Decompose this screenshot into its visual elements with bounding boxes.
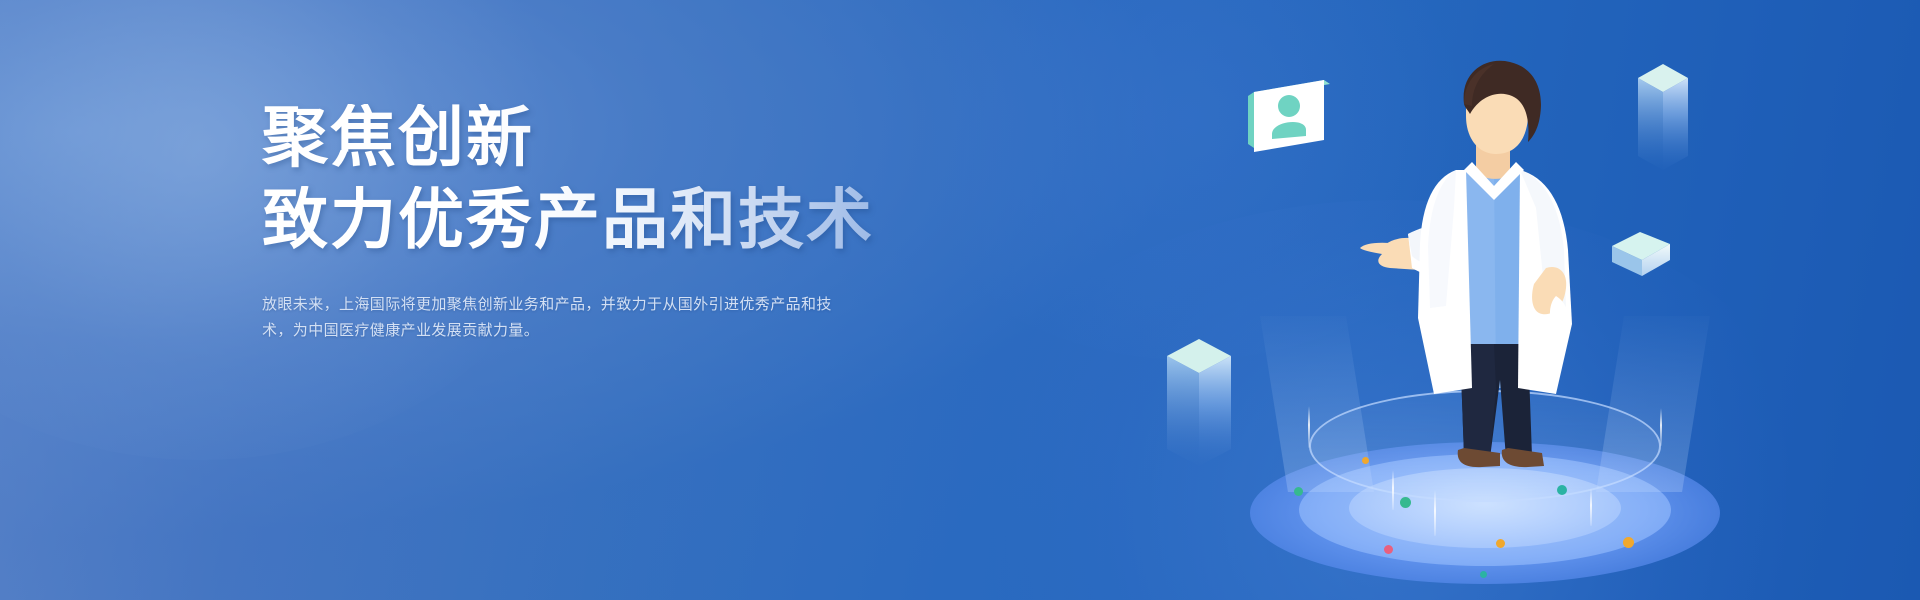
particle-dot <box>1384 545 1393 554</box>
particle-dot <box>1294 487 1303 496</box>
light-streak <box>1590 488 1592 526</box>
light-streak <box>1434 490 1436 536</box>
particle-dot <box>1480 571 1487 578</box>
particle-dot <box>1400 497 1411 508</box>
particle-dot <box>1496 539 1505 548</box>
light-streak <box>1308 406 1310 448</box>
headline-line-2: 致力优秀产品和技术 <box>262 186 902 252</box>
particle-dot <box>1557 485 1567 495</box>
hero-body-text: 放眼未来，上海国际将更加聚焦创新业务和产品，并致力于从国外引进优秀产品和技术，为… <box>262 292 848 344</box>
light-streak <box>1660 408 1662 446</box>
illustration <box>900 0 1920 600</box>
headline-line-1: 聚焦创新 <box>262 104 902 170</box>
particle-dot <box>1623 537 1634 548</box>
hero-banner: 聚焦创新 致力优秀产品和技术 放眼未来，上海国际将更加聚焦创新业务和产品，并致力… <box>0 0 1920 600</box>
iso-pillar-left-icon <box>1163 336 1235 468</box>
hero-copy: 聚焦创新 致力优秀产品和技术 放眼未来，上海国际将更加聚焦创新业务和产品，并致力… <box>262 104 902 344</box>
user-avatar-card-icon <box>1246 78 1330 158</box>
iso-pillar-right-icon <box>1634 62 1692 172</box>
doctor-figure <box>1360 58 1620 478</box>
